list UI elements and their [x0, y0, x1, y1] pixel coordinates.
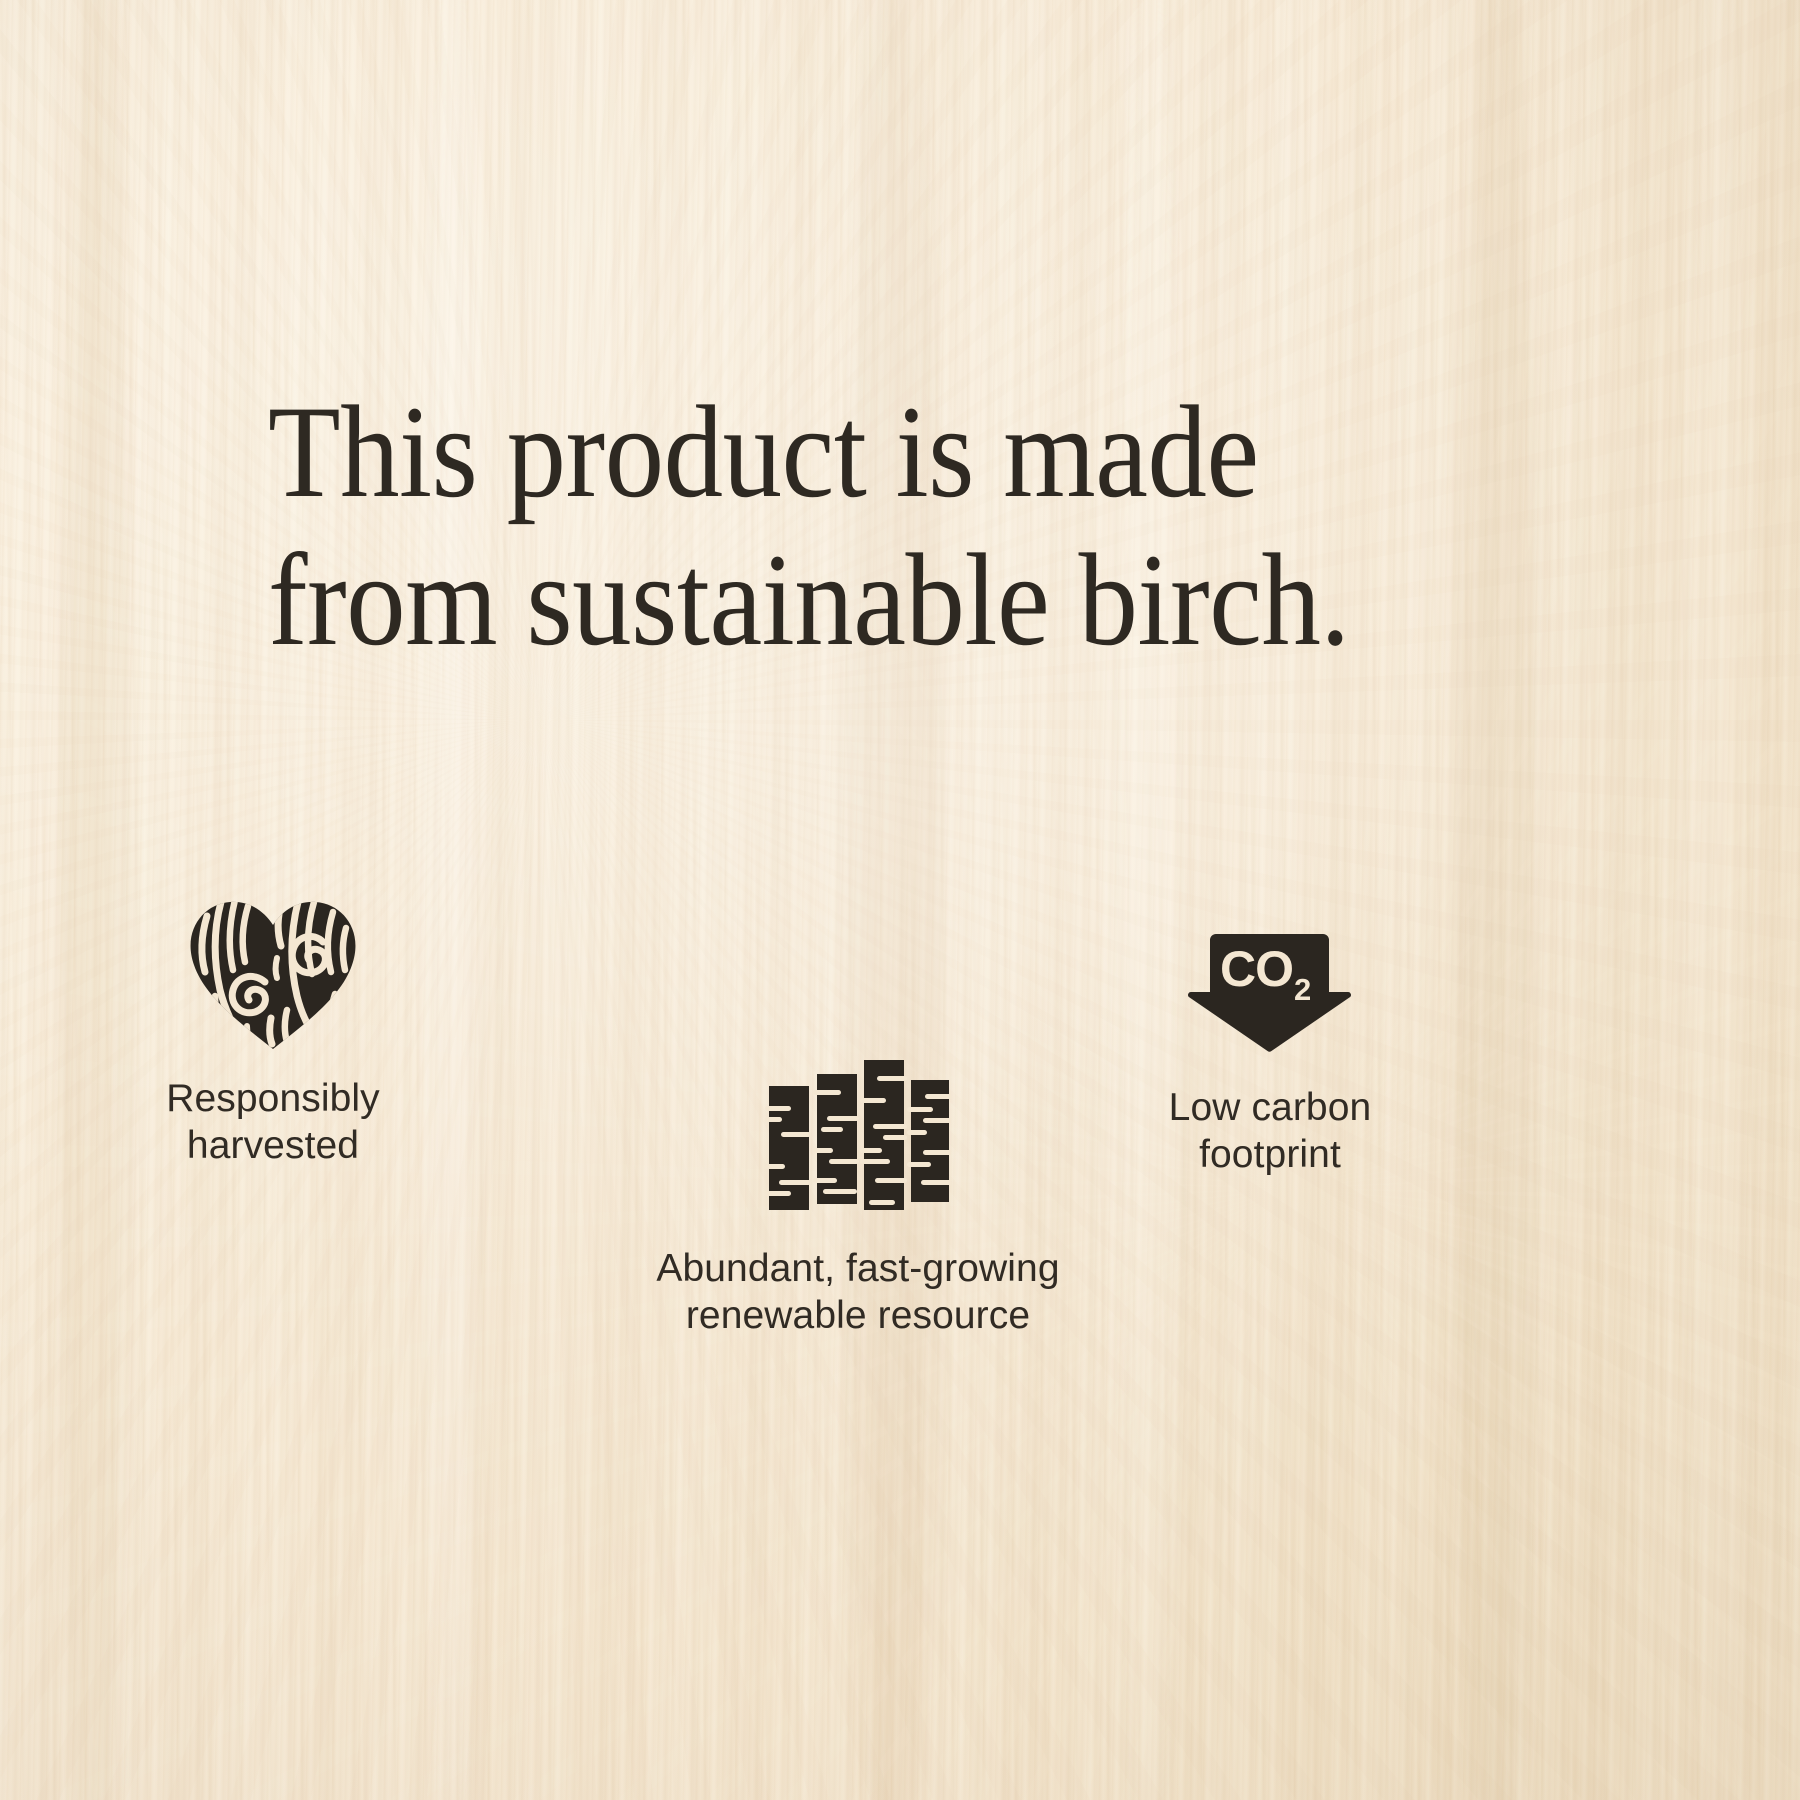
headline: This product is made from sustainable bi… — [268, 386, 1558, 666]
icon-container: CO 2 — [1105, 930, 1435, 1055]
icon-container — [108, 920, 438, 1050]
poster-canvas: This product is made from sustainable bi… — [0, 0, 1800, 1800]
co2-subscript: 2 — [1294, 972, 1311, 1007]
headline-line-2: from sustainable birch. — [268, 534, 1429, 666]
feature-responsibly-harvested: Responsibly harvested — [108, 920, 438, 1170]
feature-low-carbon-footprint: CO 2 Low carbon footprint — [1105, 930, 1435, 1179]
co2-label: CO — [1220, 941, 1293, 997]
co2-down-arrow-icon: CO 2 — [1186, 930, 1354, 1055]
icon-container — [608, 1060, 1108, 1210]
wood-grain-heart-icon — [187, 898, 359, 1050]
feature-caption: Abundant, fast-growing renewable resourc… — [608, 1246, 1108, 1340]
headline-line-1: This product is made — [268, 386, 1429, 518]
feature-renewable-resource: Abundant, fast-growing renewable resourc… — [608, 1060, 1108, 1340]
birch-trunks-icon — [765, 1060, 951, 1210]
feature-caption: Responsibly harvested — [108, 1076, 438, 1170]
feature-caption: Low carbon footprint — [1105, 1085, 1435, 1179]
